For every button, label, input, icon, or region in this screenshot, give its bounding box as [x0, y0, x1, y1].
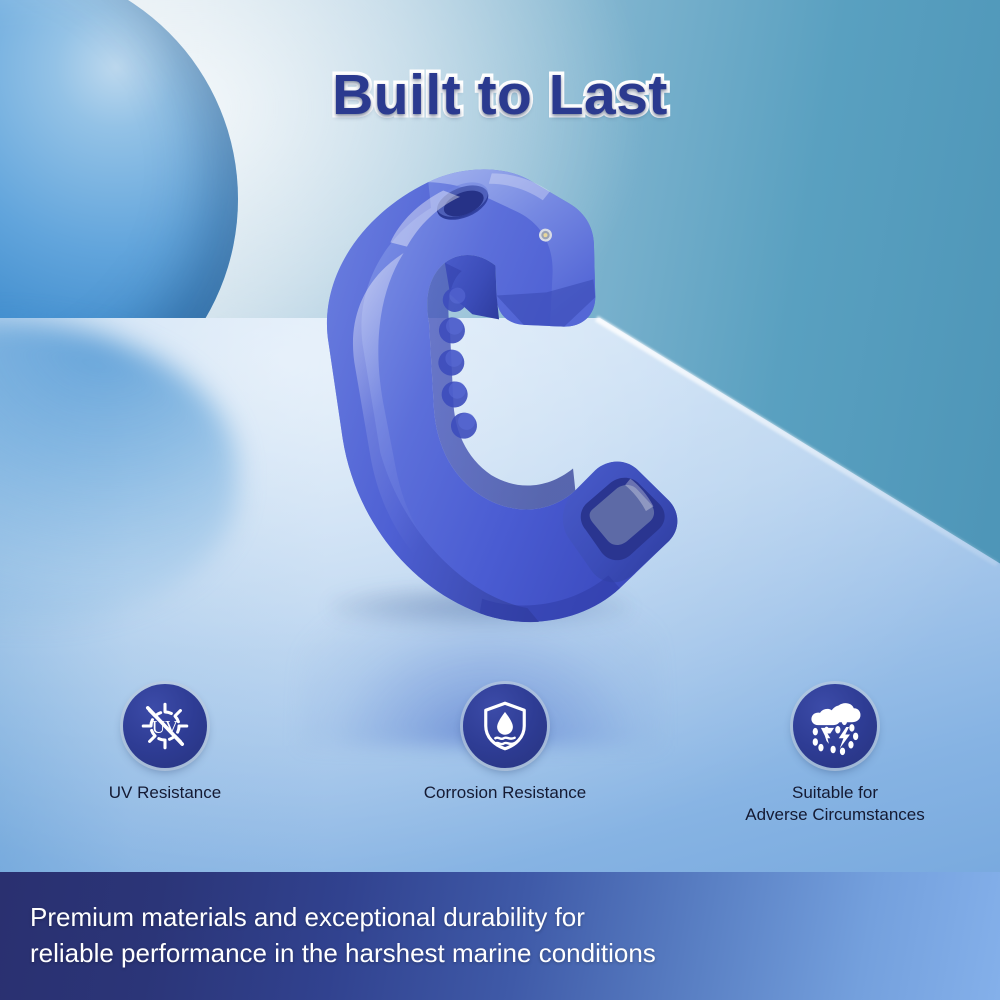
- corrosion-resistance-badge: [463, 684, 547, 768]
- product-feature-banner: Built to Last: [0, 0, 1000, 1000]
- corrosion-resistance-icon: [477, 698, 533, 754]
- uv-resistance-icon: UV: [136, 697, 194, 755]
- feature-item-uv-resistance[interactable]: UV UV Resistance: [35, 684, 295, 804]
- adverse-weather-badge: [793, 684, 877, 768]
- caption-bar: Premium materials and exceptional durabi…: [0, 872, 1000, 1000]
- feature-list: UV UV Resistance Corrosion Resistance: [0, 684, 1000, 844]
- caption-text: Premium materials and exceptional durabi…: [0, 900, 656, 972]
- feature-label: UV Resistance: [35, 782, 295, 804]
- feature-label: Corrosion Resistance: [375, 782, 635, 804]
- feature-item-adverse-circumstances[interactable]: Suitable for Adverse Circumstances: [705, 684, 965, 826]
- feature-label: Suitable for Adverse Circumstances: [705, 782, 965, 826]
- product-image-clamp-hook: [244, 121, 713, 652]
- adverse-weather-icon: [805, 696, 865, 756]
- feature-item-corrosion-resistance[interactable]: Corrosion Resistance: [375, 684, 635, 804]
- uv-resistance-badge: UV: [123, 684, 207, 768]
- page-title: Built to Last: [0, 62, 1000, 128]
